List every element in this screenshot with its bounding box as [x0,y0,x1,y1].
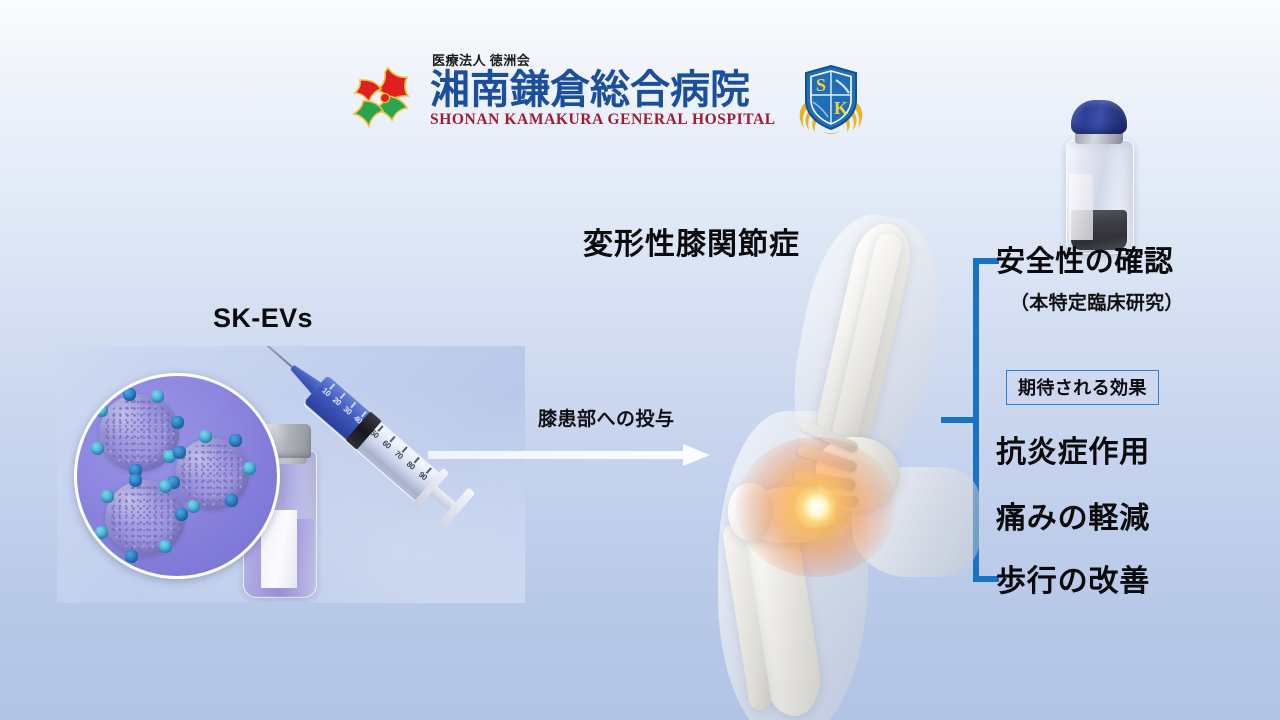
sk-evs-product-image: 10 20 30 40 50 60 70 80 90 [57,346,525,603]
vesicle-spike [243,462,256,475]
vesicle-spike [173,446,186,459]
vesicle-spike [91,442,104,455]
vesicle-spike [123,388,136,401]
vesicle-spike [229,434,242,447]
vesicle-spike [225,494,238,507]
vesicle-spike [175,508,188,521]
syringe-needle [222,346,297,372]
sk-evs-label: SK-EVs [213,303,313,334]
syringe-body: 10 20 30 40 50 60 70 80 90 [277,351,474,532]
vesicle-spike [171,416,184,429]
vesicle-spike [199,430,212,443]
exosome-magnifier-circle [74,373,280,579]
outcomes-column: 安全性の確認 （本特定臨床研究） [996,246,1266,315]
vesicle-spike [101,490,114,503]
sk-shield-emblem-icon: S K [792,62,870,136]
logo-name-en: SHONAN KAMAKURA GENERAL HOSPITAL [430,112,780,128]
vesicle-spike [129,474,142,487]
pain-core-flare [800,493,834,521]
effect-gait-improvement: 歩行の改善 [996,556,1150,600]
safety-subtitle: （本特定臨床研究） [1010,288,1266,315]
tokushukai-flower-icon [352,66,424,132]
slide-canvas: 医療法人 徳洲会 湘南鎌倉総合病院 SHONAN KAMAKURA GENERA… [0,0,1280,720]
vesicle-spike [187,500,200,513]
svg-text:S: S [816,75,826,95]
logo-corporation: 医療法人 徳洲会 [432,54,780,67]
logo-name-jp: 湘南鎌倉総合病院 [430,69,780,111]
svg-text:K: K [834,98,848,118]
expected-effects-badge: 期待される効果 [1006,370,1159,405]
knee-joint-illustration [640,215,970,615]
syringe: 10 20 30 40 50 60 70 80 90 [269,348,519,600]
vesicle-spike [95,526,108,539]
hospital-logo: 医療法人 徳洲会 湘南鎌倉総合病院 SHONAN KAMAKURA GENERA… [352,54,872,140]
vial-label [1069,174,1093,240]
vesicle-spike [151,390,164,403]
vesicle-spike [125,550,138,563]
effect-anti-inflammatory: 抗炎症作用 [996,427,1150,471]
sk-evs-vial-top-right [1053,100,1145,255]
safety-title: 安全性の確認 [996,246,1266,279]
logo-text: 医療法人 徳洲会 湘南鎌倉総合病院 SHONAN KAMAKURA GENERA… [430,54,780,128]
vial-blue-cap [1071,100,1127,134]
effect-pain-reduction: 痛みの軽減 [996,493,1150,537]
vesicle-spike [159,540,172,553]
vesicle-spike [159,480,172,493]
vesicle-particle [105,480,185,556]
vesicle-spike [95,404,108,417]
